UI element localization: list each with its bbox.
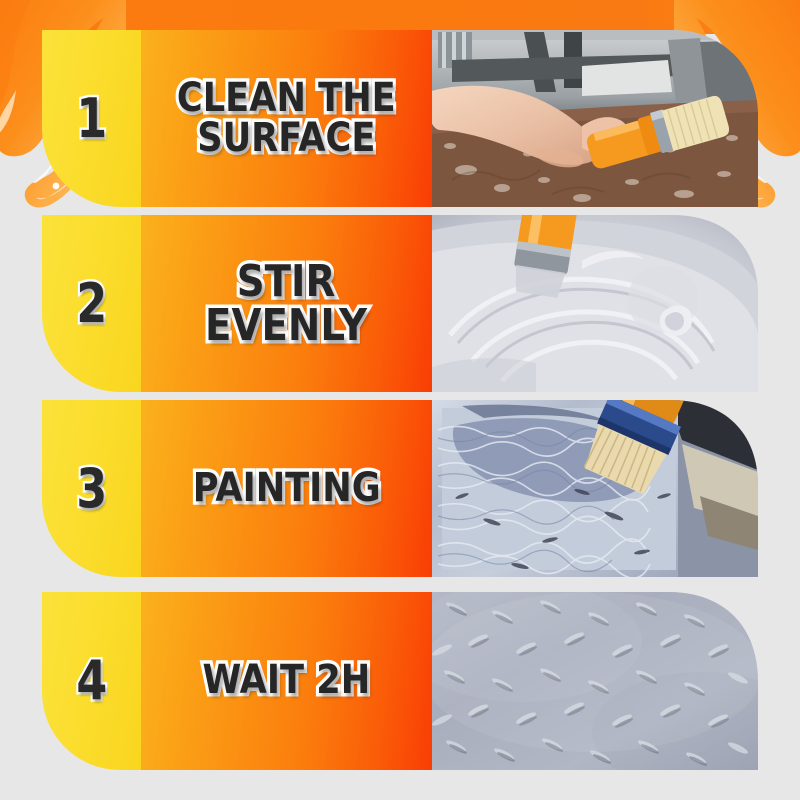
step-label-panel: CLEAN THE SURFACE: [141, 30, 432, 207]
step-number-panel: 2: [42, 215, 141, 392]
step-label-panel: PAINTING: [141, 400, 432, 577]
dry-diamond-plate-photo: [432, 592, 758, 770]
step-row: 4 WAIT 2H: [42, 592, 758, 770]
step-number: 4: [76, 654, 107, 708]
step-label: PAINTING: [186, 469, 388, 508]
step-label-panel: WAIT 2H: [141, 592, 432, 770]
step-number-panel: 3: [42, 400, 141, 577]
step-number-panel: 4: [42, 592, 141, 770]
step-number: 3: [76, 462, 107, 516]
step-label-line: STIR: [206, 260, 368, 303]
hand-brushing-rusty-surface-photo: [432, 30, 758, 207]
step-label-line: CLEAN THE: [177, 79, 396, 118]
step-label-line: EVENLY: [206, 304, 368, 347]
painting-metal-plate-photo: [432, 400, 758, 577]
step-label: WAIT 2H: [196, 661, 378, 700]
step-label: CLEAN THE SURFACE: [170, 79, 403, 157]
stirring-grey-paint-photo: [432, 215, 758, 392]
step-number: 1: [76, 92, 107, 146]
step-row: 2 STIR EVENLY: [42, 215, 758, 392]
step-label-line: PAINTING: [193, 469, 381, 508]
step-label-line: WAIT 2H: [203, 661, 371, 700]
step-number: 2: [76, 277, 107, 331]
step-label-panel: STIR EVENLY: [141, 215, 432, 392]
step-row: 1 CLEAN THE SURFACE: [42, 30, 758, 207]
step-row: 3 PAINTING: [42, 400, 758, 577]
step-label: STIR EVENLY: [198, 260, 374, 346]
step-label-line: SURFACE: [177, 119, 396, 158]
step-number-panel: 1: [42, 30, 141, 207]
